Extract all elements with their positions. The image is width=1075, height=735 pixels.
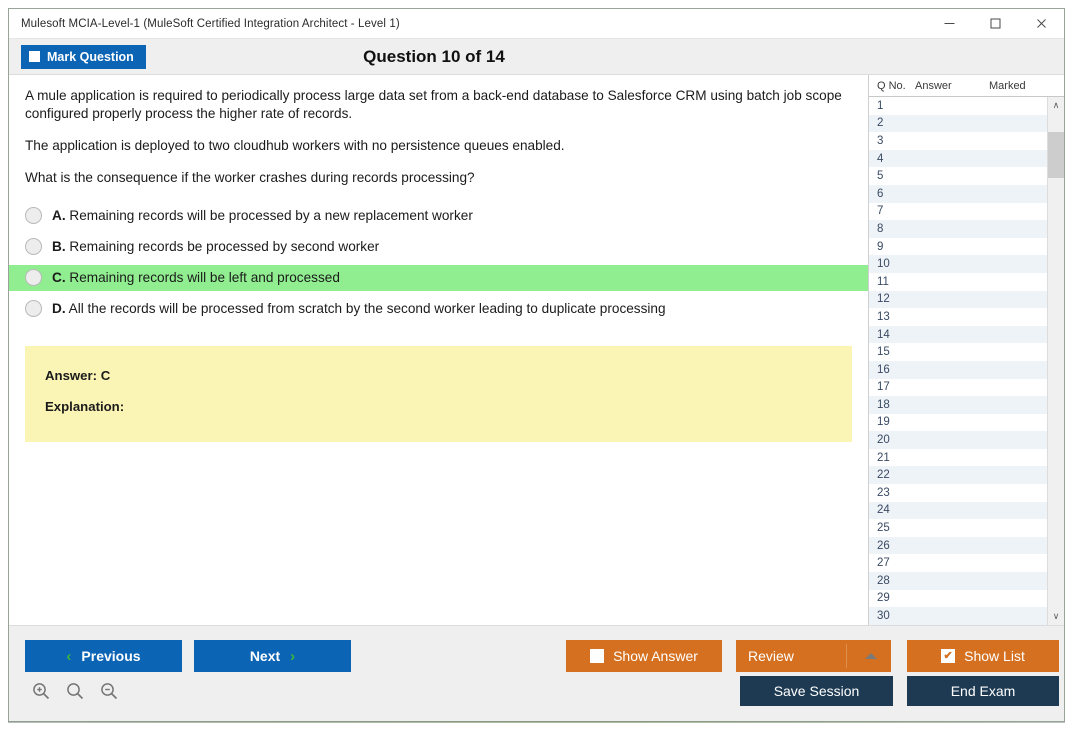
option-row-d[interactable]: D. All the records will be processed fro…	[9, 296, 868, 322]
option-text-d: All the records will be processed from s…	[69, 301, 666, 316]
question-list-row[interactable]: 8	[869, 220, 1047, 238]
review-label: Review	[748, 648, 794, 664]
question-pane: A mule application is required to period…	[9, 75, 868, 625]
question-list-row[interactable]: 4	[869, 150, 1047, 168]
question-list-row[interactable]: 7	[869, 203, 1047, 221]
show-list-button[interactable]: ✔ Show List	[907, 640, 1059, 672]
question-list-cell-qno: 4	[869, 153, 915, 165]
question-list-cell-qno: 16	[869, 364, 915, 376]
window-title: Mulesoft MCIA-Level-1 (MuleSoft Certifie…	[9, 18, 400, 30]
question-list-cell-qno: 24	[869, 504, 915, 516]
question-list-cell-qno: 18	[869, 399, 915, 411]
question-list-cell-qno: 29	[869, 592, 915, 604]
question-list-cell-qno: 17	[869, 381, 915, 393]
question-list-body: 1234567891011121314151617181920212223242…	[869, 97, 1064, 625]
question-list-cell-qno: 21	[869, 452, 915, 464]
option-letter-d: D.	[52, 301, 66, 316]
question-list-cell-qno: 19	[869, 416, 915, 428]
option-label-c: C. Remaining records will be left and pr…	[52, 270, 340, 285]
option-letter-b: B.	[52, 239, 66, 254]
footer-toolbar: ‹ Previous Next › Show Answer Review ✔ S…	[9, 625, 1064, 721]
question-list-row[interactable]: 27	[869, 554, 1047, 572]
option-text-b: Remaining records be processed by second…	[69, 239, 379, 254]
question-paragraph: The application is deployed to two cloud…	[25, 137, 852, 155]
radio-icon-c[interactable]	[25, 269, 42, 286]
question-list-row[interactable]: 16	[869, 361, 1047, 379]
question-counter: Question 10 of 14	[9, 39, 1064, 74]
question-list-row[interactable]: 12	[869, 291, 1047, 309]
show-list-label: Show List	[964, 648, 1025, 664]
question-list-cell-qno: 11	[869, 276, 915, 288]
zoom-reset-icon[interactable]	[65, 681, 85, 701]
caret-up-icon[interactable]	[865, 653, 877, 659]
question-paragraph: A mule application is required to period…	[25, 87, 852, 123]
zoom-out-icon[interactable]	[99, 681, 119, 701]
save-session-button[interactable]: Save Session	[740, 676, 893, 706]
show-answer-button[interactable]: Show Answer	[566, 640, 722, 672]
question-list-row[interactable]: 2	[869, 115, 1047, 133]
question-list-row[interactable]: 30	[869, 607, 1047, 625]
question-list-cell-qno: 28	[869, 575, 915, 587]
end-exam-label: End Exam	[951, 683, 1016, 699]
zoom-controls	[31, 681, 119, 701]
option-letter-a: A.	[52, 208, 66, 223]
question-list-row[interactable]: 18	[869, 396, 1047, 414]
end-exam-button[interactable]: End Exam	[907, 676, 1059, 706]
scrollbar-track[interactable]	[1048, 114, 1064, 608]
question-list-row[interactable]: 24	[869, 502, 1047, 520]
close-icon[interactable]	[1018, 9, 1064, 39]
question-list-row[interactable]: 11	[869, 273, 1047, 291]
zoom-in-icon[interactable]	[31, 681, 51, 701]
question-list-row[interactable]: 25	[869, 519, 1047, 537]
mark-question-label: Mark Question	[47, 50, 134, 64]
question-paragraph: What is the consequence if the worker cr…	[25, 169, 852, 187]
maximize-icon[interactable]	[972, 9, 1018, 39]
column-header-answer: Answer	[915, 80, 989, 92]
show-answer-checkbox-icon	[590, 649, 604, 663]
answer-explanation-box: Answer: C Explanation:	[25, 346, 852, 442]
question-list-row[interactable]: 10	[869, 255, 1047, 273]
next-button[interactable]: Next ›	[194, 640, 351, 672]
question-list-row[interactable]: 20	[869, 431, 1047, 449]
question-text-block: A mule application is required to period…	[9, 75, 868, 187]
question-list-row[interactable]: 28	[869, 572, 1047, 590]
radio-icon-b[interactable]	[25, 238, 42, 255]
question-list-row[interactable]: 17	[869, 379, 1047, 397]
scrollbar-thumb[interactable]	[1048, 132, 1064, 178]
question-list-rows: 1234567891011121314151617181920212223242…	[869, 97, 1047, 625]
question-list-cell-qno: 1	[869, 100, 915, 112]
review-separator	[846, 644, 847, 668]
question-list-row[interactable]: 13	[869, 308, 1047, 326]
option-label-d: D. All the records will be processed fro…	[52, 301, 666, 316]
scroll-down-icon[interactable]: ∨	[1048, 608, 1064, 625]
option-row-a[interactable]: A. Remaining records will be processed b…	[9, 203, 868, 229]
question-list-cell-qno: 23	[869, 487, 915, 499]
radio-icon-d[interactable]	[25, 300, 42, 317]
chevron-left-icon: ‹	[66, 649, 71, 664]
option-row-c[interactable]: C. Remaining records will be left and pr…	[9, 265, 868, 291]
question-list-row[interactable]: 22	[869, 466, 1047, 484]
question-list-row[interactable]: 26	[869, 537, 1047, 555]
answer-options-list: A. Remaining records will be processed b…	[9, 203, 868, 322]
chevron-right-icon: ›	[290, 649, 295, 664]
option-letter-c: C.	[52, 270, 66, 285]
review-dropdown[interactable]: Review	[736, 640, 891, 672]
question-list-row[interactable]: 15	[869, 343, 1047, 361]
question-list-cell-qno: 2	[869, 117, 915, 129]
option-text-c: Remaining records will be left and proce…	[69, 270, 340, 285]
question-list-cell-qno: 14	[869, 329, 915, 341]
question-list-cell-qno: 8	[869, 223, 915, 235]
exam-app-window: Mulesoft MCIA-Level-1 (MuleSoft Certifie…	[0, 0, 1075, 735]
question-list-cell-qno: 13	[869, 311, 915, 323]
show-answer-label: Show Answer	[613, 648, 698, 664]
question-list-cell-qno: 10	[869, 258, 915, 270]
answer-label: Answer: C	[45, 368, 852, 383]
question-list-row[interactable]: 23	[869, 484, 1047, 502]
column-header-marked: Marked	[989, 80, 1064, 92]
option-label-b: B. Remaining records be processed by sec…	[52, 239, 379, 254]
question-list-cell-qno: 12	[869, 293, 915, 305]
question-list-row[interactable]: 14	[869, 326, 1047, 344]
mark-question-checkbox-icon	[29, 51, 40, 62]
option-text-a: Remaining records will be processed by a…	[69, 208, 472, 223]
next-button-label: Next	[250, 648, 280, 664]
question-list-header: Q No. Answer Marked	[869, 75, 1064, 97]
question-list-cell-qno: 6	[869, 188, 915, 200]
question-list-scrollbar[interactable]: ∧ ∨	[1047, 97, 1064, 625]
question-list-cell-qno: 25	[869, 522, 915, 534]
option-row-b[interactable]: B. Remaining records be processed by sec…	[9, 234, 868, 260]
question-list-row[interactable]: 9	[869, 238, 1047, 256]
question-list-row[interactable]: 1	[869, 97, 1047, 115]
title-bar: Mulesoft MCIA-Level-1 (MuleSoft Certifie…	[9, 9, 1064, 39]
question-list-cell-qno: 5	[869, 170, 915, 182]
exam-header-bar: Mark Question Question 10 of 14	[9, 39, 1064, 75]
question-list-cell-qno: 30	[869, 610, 915, 622]
question-list-row[interactable]: 6	[869, 185, 1047, 203]
application-window: Mulesoft MCIA-Level-1 (MuleSoft Certifie…	[8, 8, 1065, 722]
save-session-label: Save Session	[774, 683, 860, 699]
column-header-qno: Q No.	[869, 80, 915, 92]
question-list-cell-qno: 9	[869, 241, 915, 253]
minimize-icon[interactable]	[926, 9, 972, 39]
previous-button-label: Previous	[81, 648, 140, 664]
question-list-cell-qno: 26	[869, 540, 915, 552]
radio-icon-a[interactable]	[25, 207, 42, 224]
question-list-row[interactable]: 3	[869, 132, 1047, 150]
show-list-checkbox-icon: ✔	[941, 649, 955, 663]
question-list-row[interactable]: 19	[869, 414, 1047, 432]
scroll-up-icon[interactable]: ∧	[1048, 97, 1064, 114]
question-list-cell-qno: 27	[869, 557, 915, 569]
question-list-cell-qno: 15	[869, 346, 915, 358]
question-list-cell-qno: 20	[869, 434, 915, 446]
question-list-row[interactable]: 29	[869, 590, 1047, 608]
previous-button[interactable]: ‹ Previous	[25, 640, 182, 672]
question-list-row[interactable]: 5	[869, 167, 1047, 185]
question-list-cell-qno: 3	[869, 135, 915, 147]
window-controls	[926, 9, 1064, 39]
question-list-pane: Q No. Answer Marked 12345678910111213141…	[868, 75, 1064, 625]
question-list-cell-qno: 22	[869, 469, 915, 481]
content-area: A mule application is required to period…	[9, 75, 1064, 625]
question-list-cell-qno: 7	[869, 205, 915, 217]
explanation-label: Explanation:	[45, 399, 852, 414]
question-list-row[interactable]: 21	[869, 449, 1047, 467]
mark-question-button[interactable]: Mark Question	[21, 45, 146, 69]
option-label-a: A. Remaining records will be processed b…	[52, 208, 473, 223]
